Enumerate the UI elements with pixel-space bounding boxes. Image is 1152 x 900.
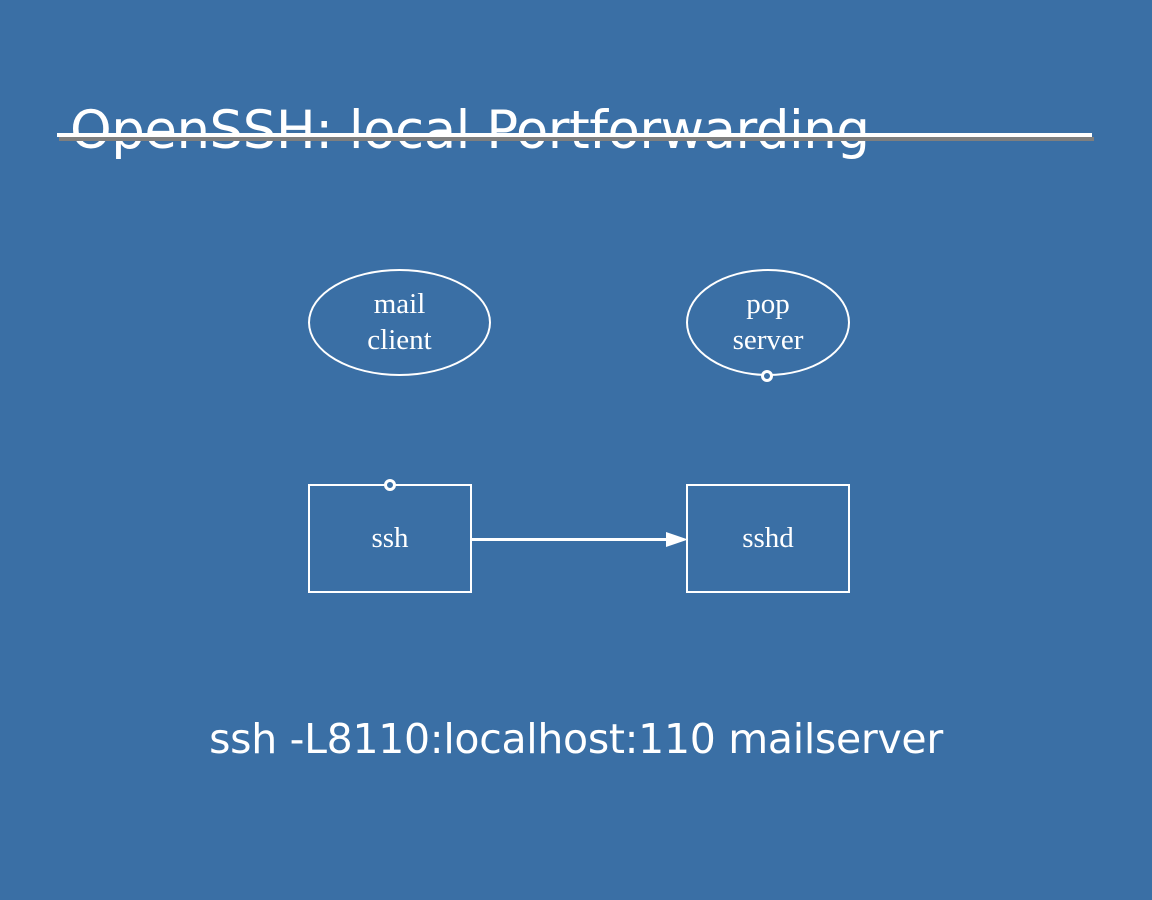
node-pop-server[interactable]: pop server — [686, 269, 850, 376]
port-dot-ssh[interactable] — [384, 479, 396, 491]
command-caption: ssh -L8110:localhost:110 mailserver — [0, 710, 1152, 768]
node-sshd-label: sshd — [742, 521, 794, 556]
node-mail-client[interactable]: mail client — [308, 269, 491, 376]
port-dot-pop-server[interactable] — [761, 370, 773, 382]
node-sshd[interactable]: sshd — [686, 484, 850, 593]
node-ssh[interactable]: ssh — [308, 484, 472, 593]
node-mail-client-label: mail client — [367, 287, 431, 358]
node-ssh-label: ssh — [371, 521, 408, 556]
node-pop-server-label: pop server — [733, 287, 804, 358]
arrow-ssh-to-sshd — [468, 525, 694, 555]
slide: OpenSSH: local Portforwarding mail clien… — [0, 0, 1152, 900]
arrow-head-icon — [666, 532, 688, 547]
